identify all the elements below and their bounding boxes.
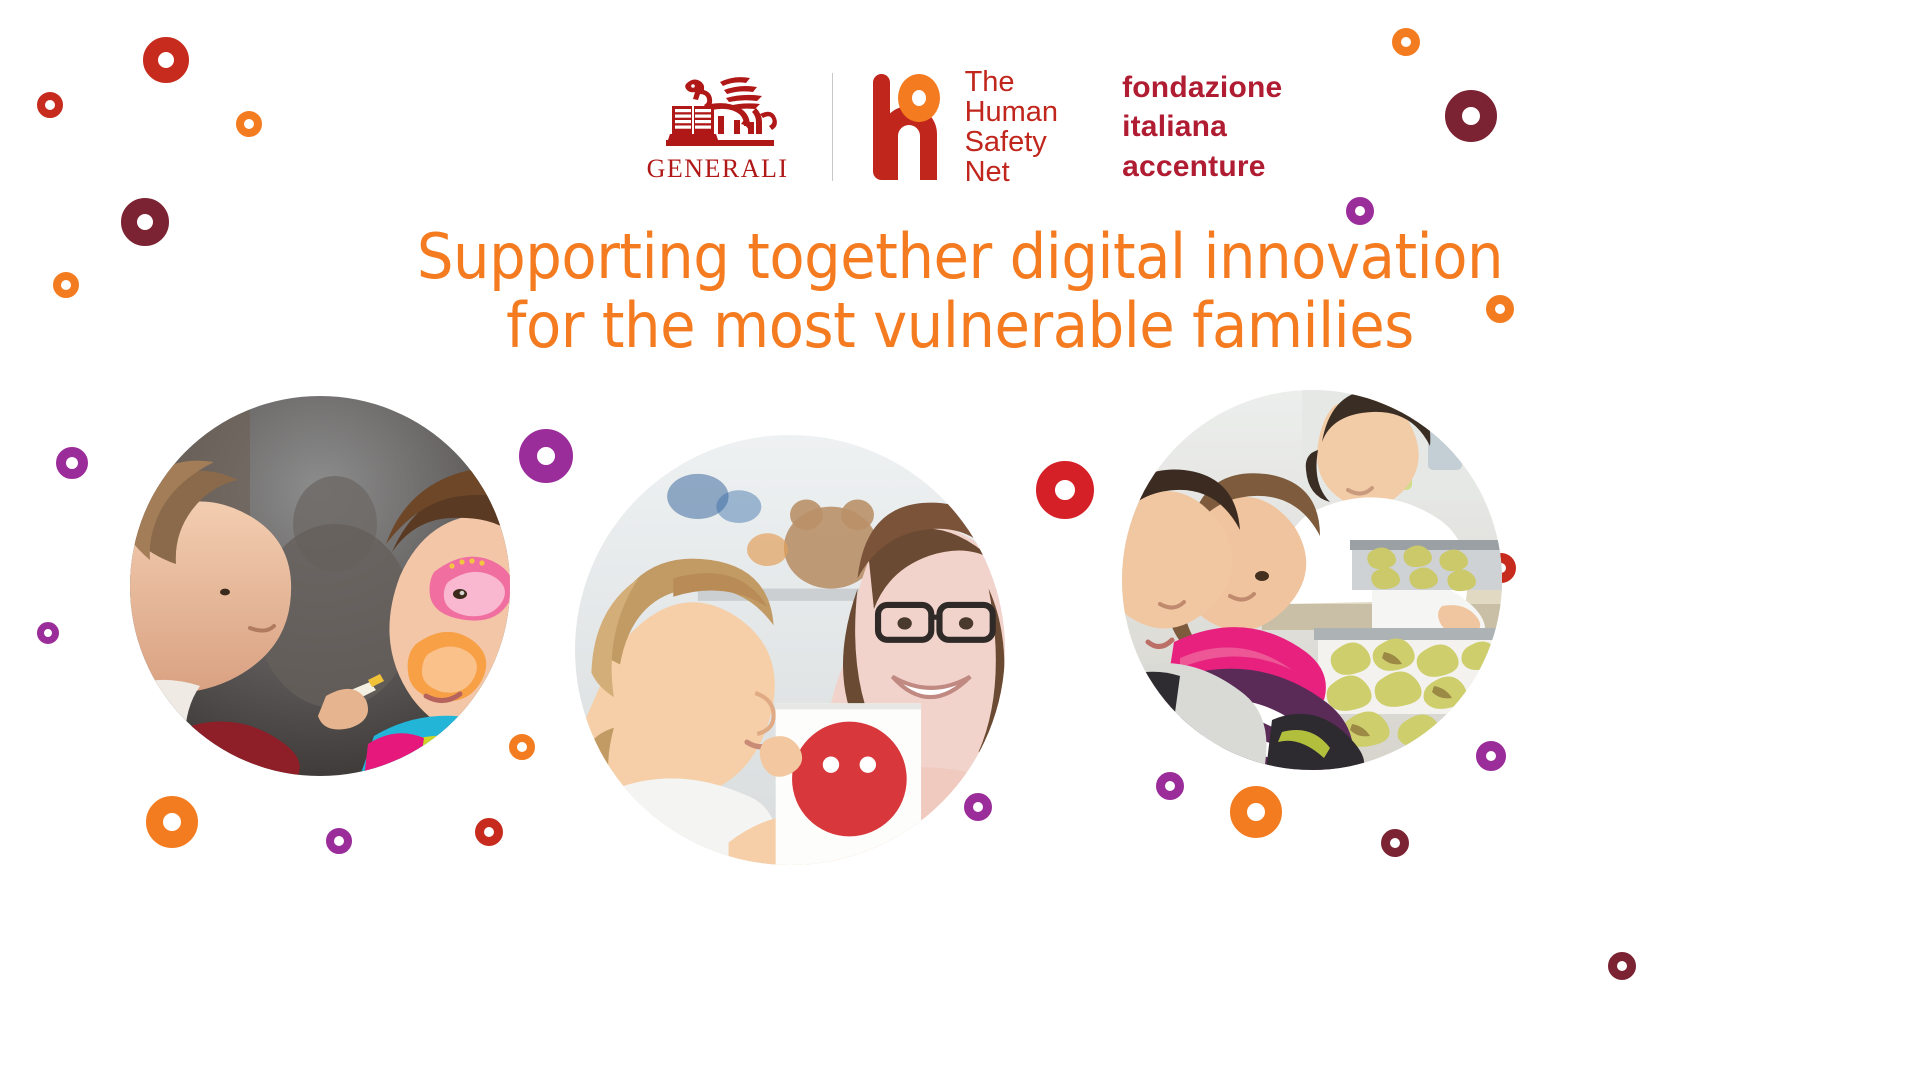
- decorative-dot: [146, 796, 198, 848]
- fia-line-1: fondazione: [1122, 68, 1282, 108]
- photo-child-with-smiley-card: [575, 435, 1005, 865]
- hsn-h-person-icon: [867, 68, 949, 186]
- fondazione-italiana-accenture-logo: fondazione italiana accenture: [1122, 68, 1282, 187]
- hsn-line-2: Human: [965, 97, 1059, 127]
- logo-bar: GENERALI The Human Safety Net fon: [0, 52, 1920, 202]
- decorative-dot: [37, 622, 59, 644]
- hsn-line-1: The: [965, 67, 1059, 97]
- decorative-dot: [519, 429, 573, 483]
- generali-wordmark: GENERALI: [647, 156, 789, 182]
- decorative-dot: [964, 793, 992, 821]
- decorative-dot: [1036, 461, 1094, 519]
- decorative-dot: [1608, 952, 1636, 980]
- human-safety-net-logo: The Human Safety Net: [867, 67, 1059, 188]
- hsn-wordmark: The Human Safety Net: [965, 67, 1059, 188]
- fia-line-3: accenture: [1122, 147, 1282, 187]
- hsn-line-3: Safety: [965, 127, 1059, 157]
- headline-line-1: Supporting together digital innovation: [67, 222, 1853, 291]
- decorative-dot: [1230, 786, 1282, 838]
- decorative-dot: [1381, 829, 1409, 857]
- poster-canvas: GENERALI The Human Safety Net fon: [0, 0, 1920, 1081]
- generali-logo: GENERALI: [638, 72, 798, 182]
- decorative-dot: [475, 818, 503, 846]
- decorative-dot: [1476, 741, 1506, 771]
- photo-children-baking: [1122, 390, 1502, 770]
- hsn-line-4: Net: [965, 157, 1059, 187]
- decorative-dot: [326, 828, 352, 854]
- decorative-dot: [1156, 772, 1184, 800]
- photo-face-painting: [130, 396, 510, 776]
- decorative-dot: [56, 447, 88, 479]
- headline-line-2: for the most vulnerable families: [67, 291, 1853, 360]
- fia-line-2: italiana: [1122, 107, 1282, 147]
- decorative-dot: [509, 734, 535, 760]
- generali-winged-lion-icon: [648, 72, 788, 152]
- logo-divider: [832, 73, 833, 181]
- page-title: Supporting together digital innovation f…: [67, 222, 1853, 361]
